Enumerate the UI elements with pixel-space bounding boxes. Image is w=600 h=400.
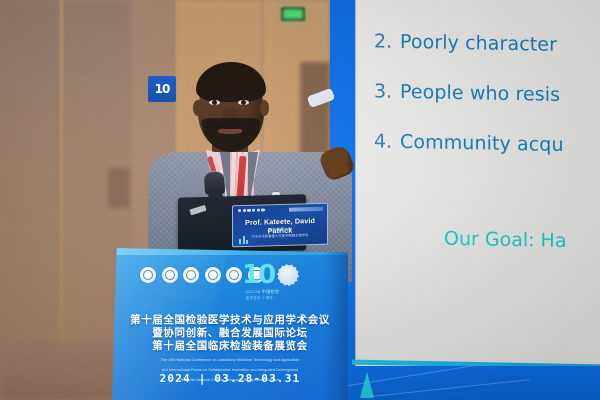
slide-bullet-number: 2. [374, 28, 400, 54]
placard-org-mark [289, 207, 323, 212]
placard-bar-graphic [239, 236, 248, 244]
speaker-moustache [214, 122, 246, 129]
microphone-flag: 10 [148, 76, 176, 102]
slide-bullet-number: 3. [374, 78, 400, 104]
projection-screen: to reduc 2. Poorly character 3. People w… [356, 0, 600, 377]
anniversary-logo: 10 [242, 262, 299, 288]
podium-english-line: The 10th National Conference on Laborato… [112, 358, 348, 363]
slide-bullet-text: People who resis [400, 79, 560, 108]
slide-cut-line: to reduc [404, 0, 483, 4]
speaker-ear [193, 100, 202, 116]
podium-title-line: 暨协同创新、融合发展国际论坛 [112, 327, 348, 340]
shirt-cuff [307, 88, 336, 108]
sponsor-logo-icon [162, 267, 178, 283]
anniversary-subtitle-secondary: 医学技术 十周年 [246, 295, 273, 300]
slide-bullet: 4. Community acqu [374, 128, 600, 158]
sponsor-logo-icon [140, 267, 156, 283]
speaker-eye [209, 100, 220, 105]
gear-icon [277, 264, 299, 286]
anniversary-number: 10 [242, 262, 274, 288]
slide-bullet: 3. People who resis [374, 78, 600, 108]
slide-bullet-text: Community acqu [400, 129, 564, 158]
stage-backdrop [330, 366, 600, 400]
exit-sign-icon [281, 7, 305, 21]
sponsor-logo-icon [226, 267, 242, 283]
speaker-eye [238, 100, 249, 105]
wall-niche [108, 168, 130, 208]
name-placard: Prof. Kateete, David Patrick 马凯雷雷大学 乌干达马… [232, 203, 328, 248]
speaker-ear [260, 100, 269, 116]
slide-bullet: 2. Poorly character [374, 28, 600, 58]
slide-bullet-list: 2. Poorly character 3. People who resis … [374, 28, 600, 182]
slide-bullet-number: 4. [374, 128, 400, 154]
podium: 10 CCLTA 中国检验 医学技术 十周年 第十届全国检验医学技术与应用学术会… [112, 248, 348, 400]
backdrop-triangle [360, 372, 374, 398]
hall-floor [0, 340, 118, 400]
placard-logo-row [238, 208, 265, 212]
microphone-flag-label: 10 [155, 82, 170, 96]
laptop-sticker [189, 205, 206, 216]
podium-event-date: 2024 | 03.28-03.31 [112, 372, 348, 385]
conference-photo: to reduc 2. Poorly character 3. People w… [0, 0, 600, 400]
podium-title-line: 第十届全国检验医学技术与应用学术会议 [112, 314, 348, 327]
slide-goal-line: Our Goal: Ha [444, 228, 567, 252]
sponsor-logo-icon [205, 267, 221, 283]
slide-bullet-text: Poorly character [400, 29, 557, 58]
sponsor-logo-icon [183, 267, 199, 283]
podium-title-line: 第十届全国临床检验装备展览会 [112, 340, 348, 353]
